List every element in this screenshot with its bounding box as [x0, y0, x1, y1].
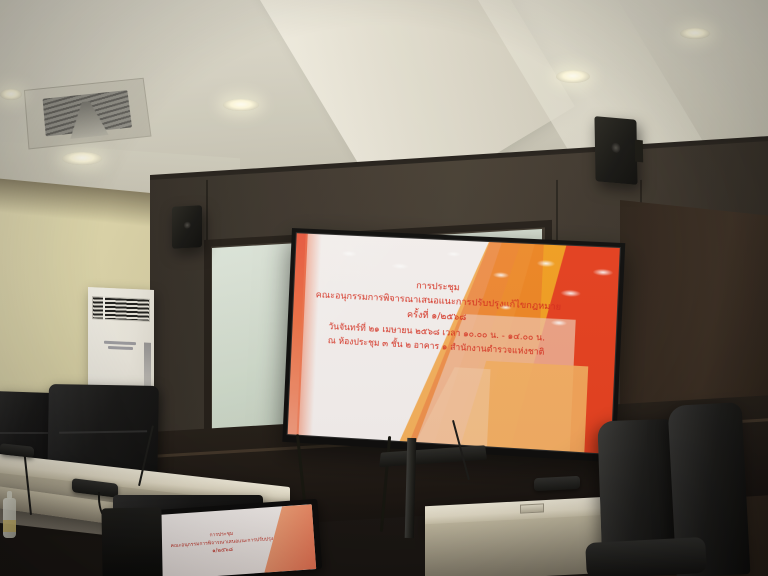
- speaker-bracket: [635, 140, 643, 163]
- ceiling-downlight: [0, 89, 22, 100]
- air-conditioner-grille: [92, 296, 150, 322]
- display-stand-pole: [405, 438, 417, 538]
- grille-divider: [103, 297, 105, 320]
- speaker-cone-icon: [184, 222, 191, 229]
- ceiling-downlight: [556, 70, 590, 83]
- conference-room-photo: การประชุม คณะอนุกรรมการพิจารณาเสนอแนะการ…: [0, 0, 768, 576]
- air-conditioner-brand-text: [144, 343, 151, 391]
- ceiling-air-vent-icon: [24, 78, 152, 150]
- confidence-monitor: การประชุม คณะอนุกรรมการพิจารณาเสนอแนะการ…: [110, 499, 322, 576]
- executive-chair-armrest: [585, 537, 707, 576]
- ceiling-downlight: [680, 28, 710, 39]
- table-nameplate-slot: [520, 503, 544, 513]
- water-bottle: [3, 498, 16, 538]
- screen-light-reflection: [446, 251, 461, 257]
- monitor-side-hood: [101, 507, 162, 576]
- microphone-base: [534, 476, 580, 491]
- wall-speaker-left: [172, 205, 202, 249]
- wall-speaker-right: [594, 116, 637, 185]
- screen-light-reflection: [391, 263, 410, 270]
- speaker-cone-icon: [611, 142, 620, 153]
- ceiling-downlight: [62, 152, 102, 165]
- screen-light-reflection: [341, 250, 357, 257]
- ceiling-downlight: [223, 99, 259, 111]
- slide-text-block: การประชุม คณะอนุกรรมการพิจารณาเสนอแนะการ…: [310, 274, 566, 362]
- air-conditioner-label: [99, 334, 143, 357]
